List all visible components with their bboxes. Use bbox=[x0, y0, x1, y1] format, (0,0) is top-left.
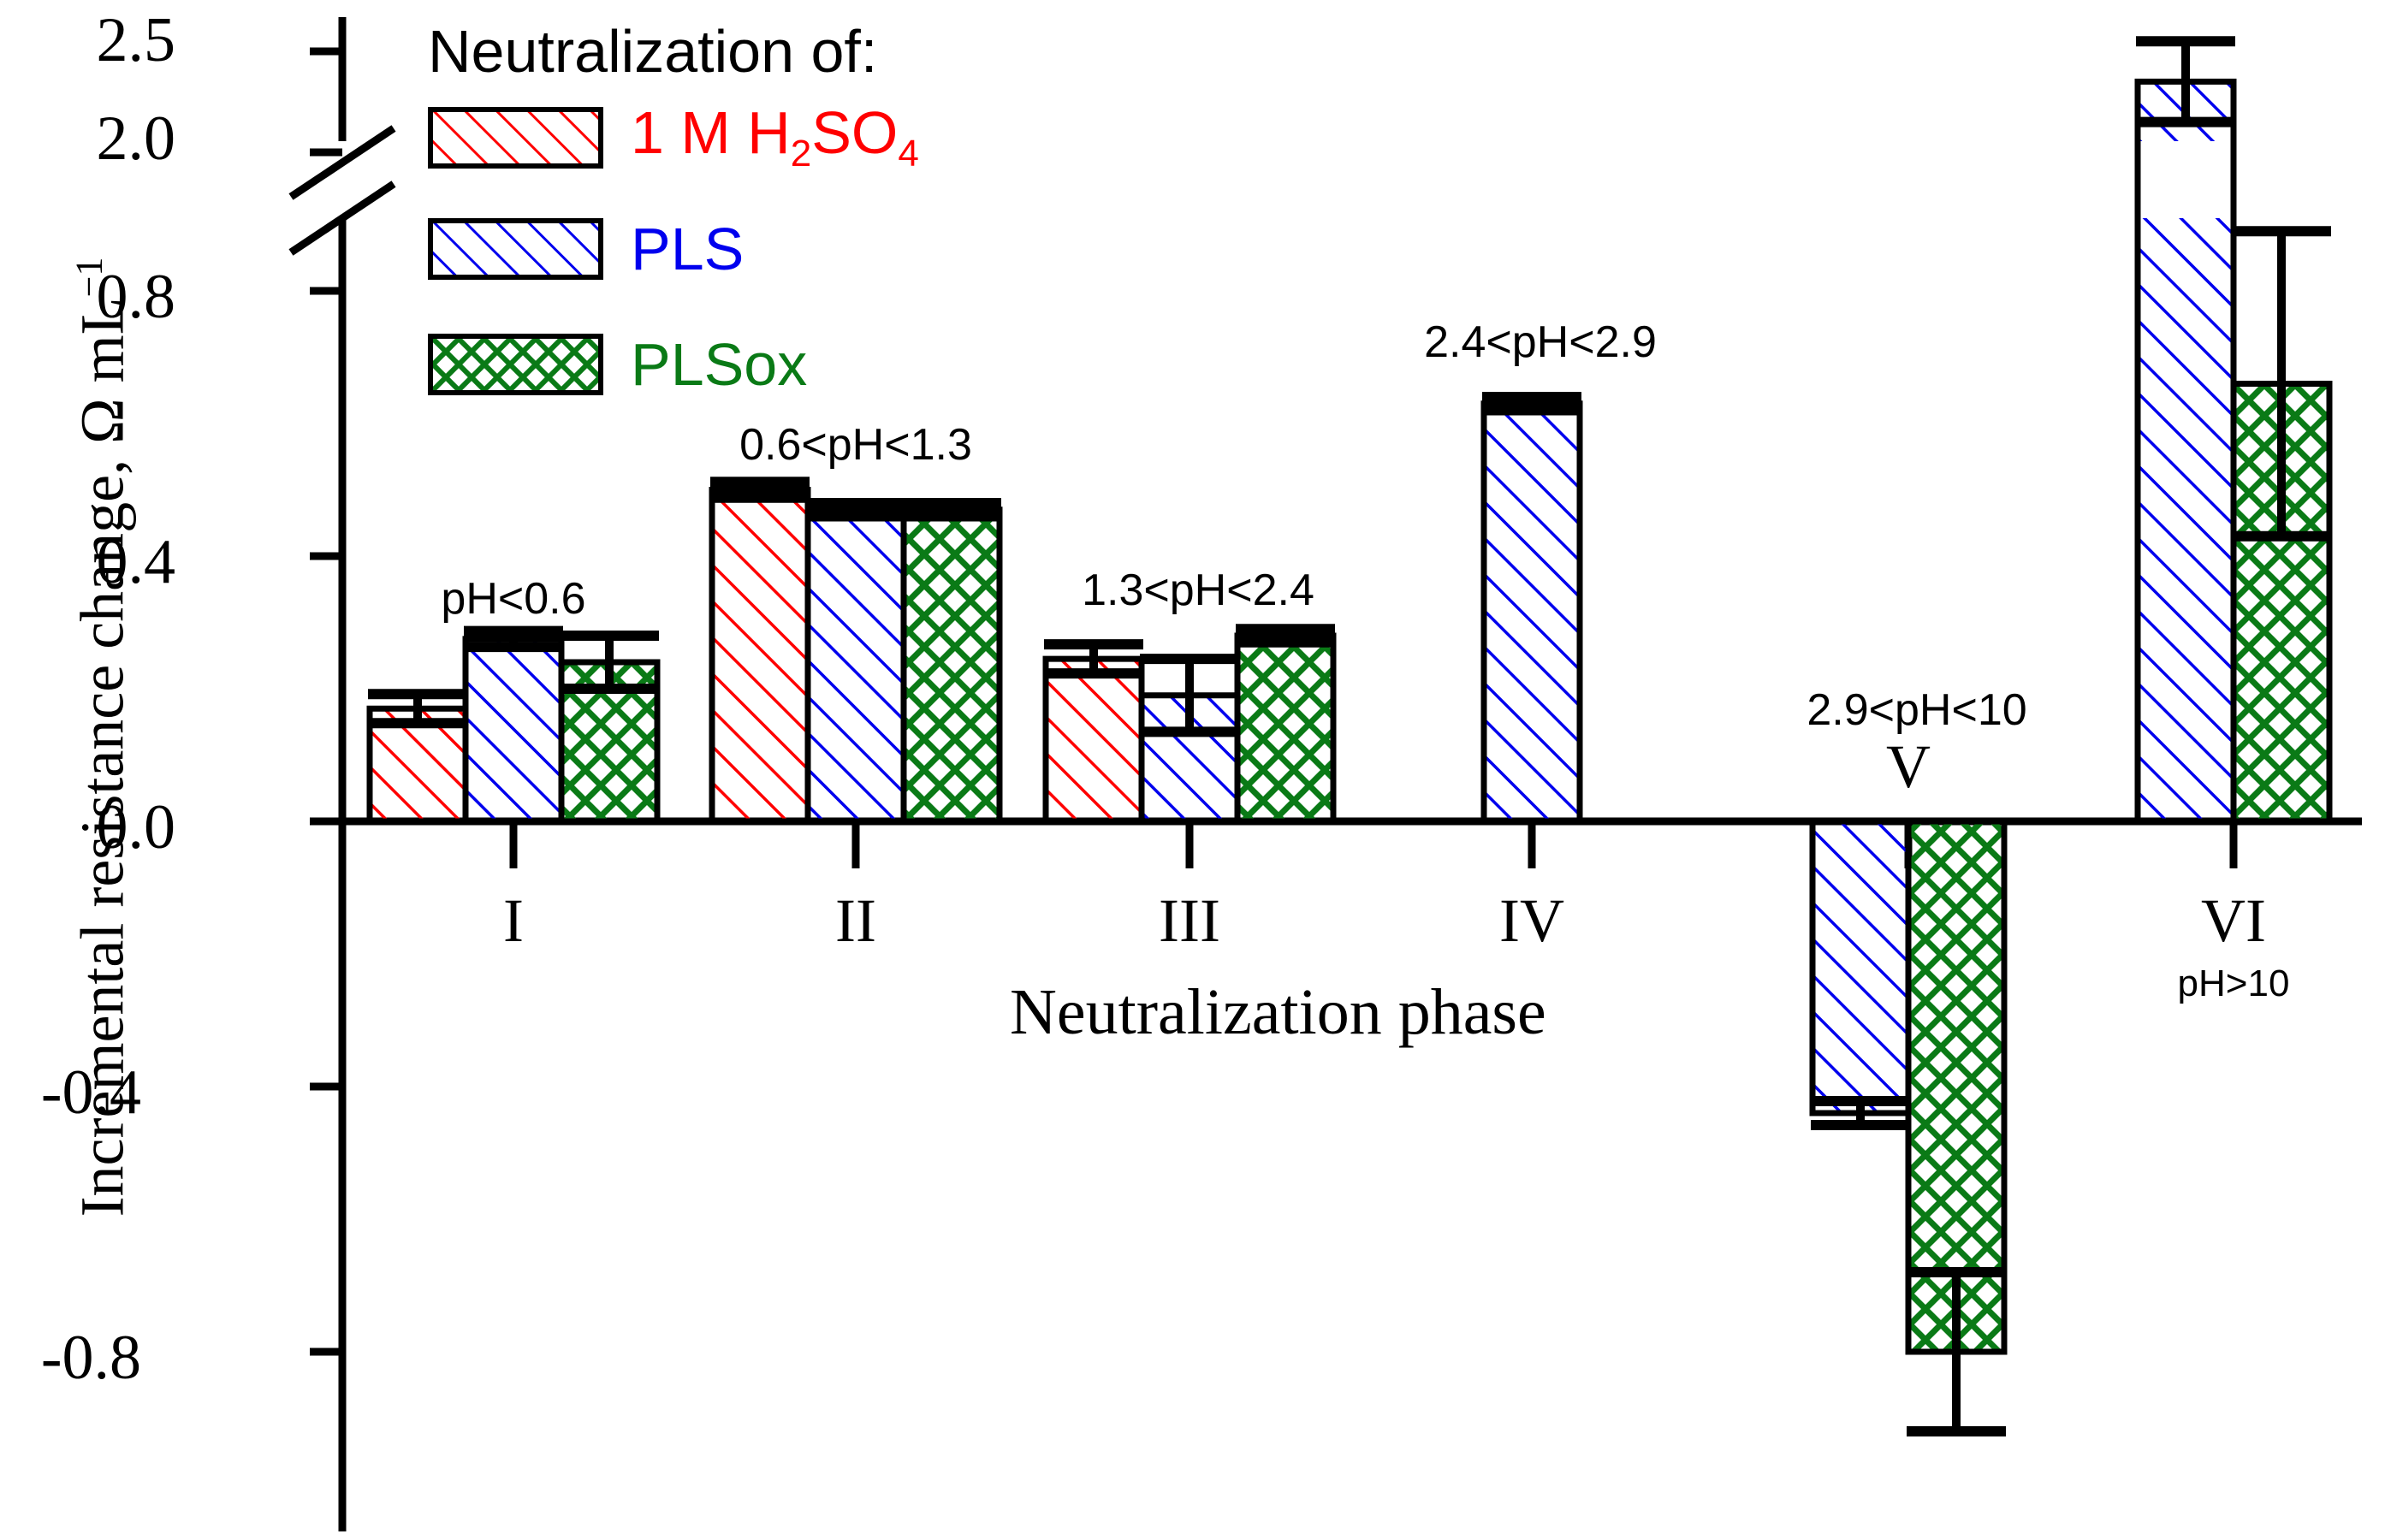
bar bbox=[1046, 659, 1142, 821]
chart-canvas: Incremental resistance change, Ω mL−1 Ne… bbox=[0, 0, 2385, 1540]
bar bbox=[1484, 404, 1580, 821]
bar bbox=[808, 510, 904, 821]
bar bbox=[1812, 821, 1908, 1113]
plot-area bbox=[0, 0, 2385, 1540]
axis-break-mask bbox=[2134, 141, 2237, 218]
bar bbox=[712, 490, 808, 822]
bar bbox=[1237, 636, 1333, 821]
bar bbox=[466, 639, 561, 821]
bar bbox=[904, 510, 1000, 821]
